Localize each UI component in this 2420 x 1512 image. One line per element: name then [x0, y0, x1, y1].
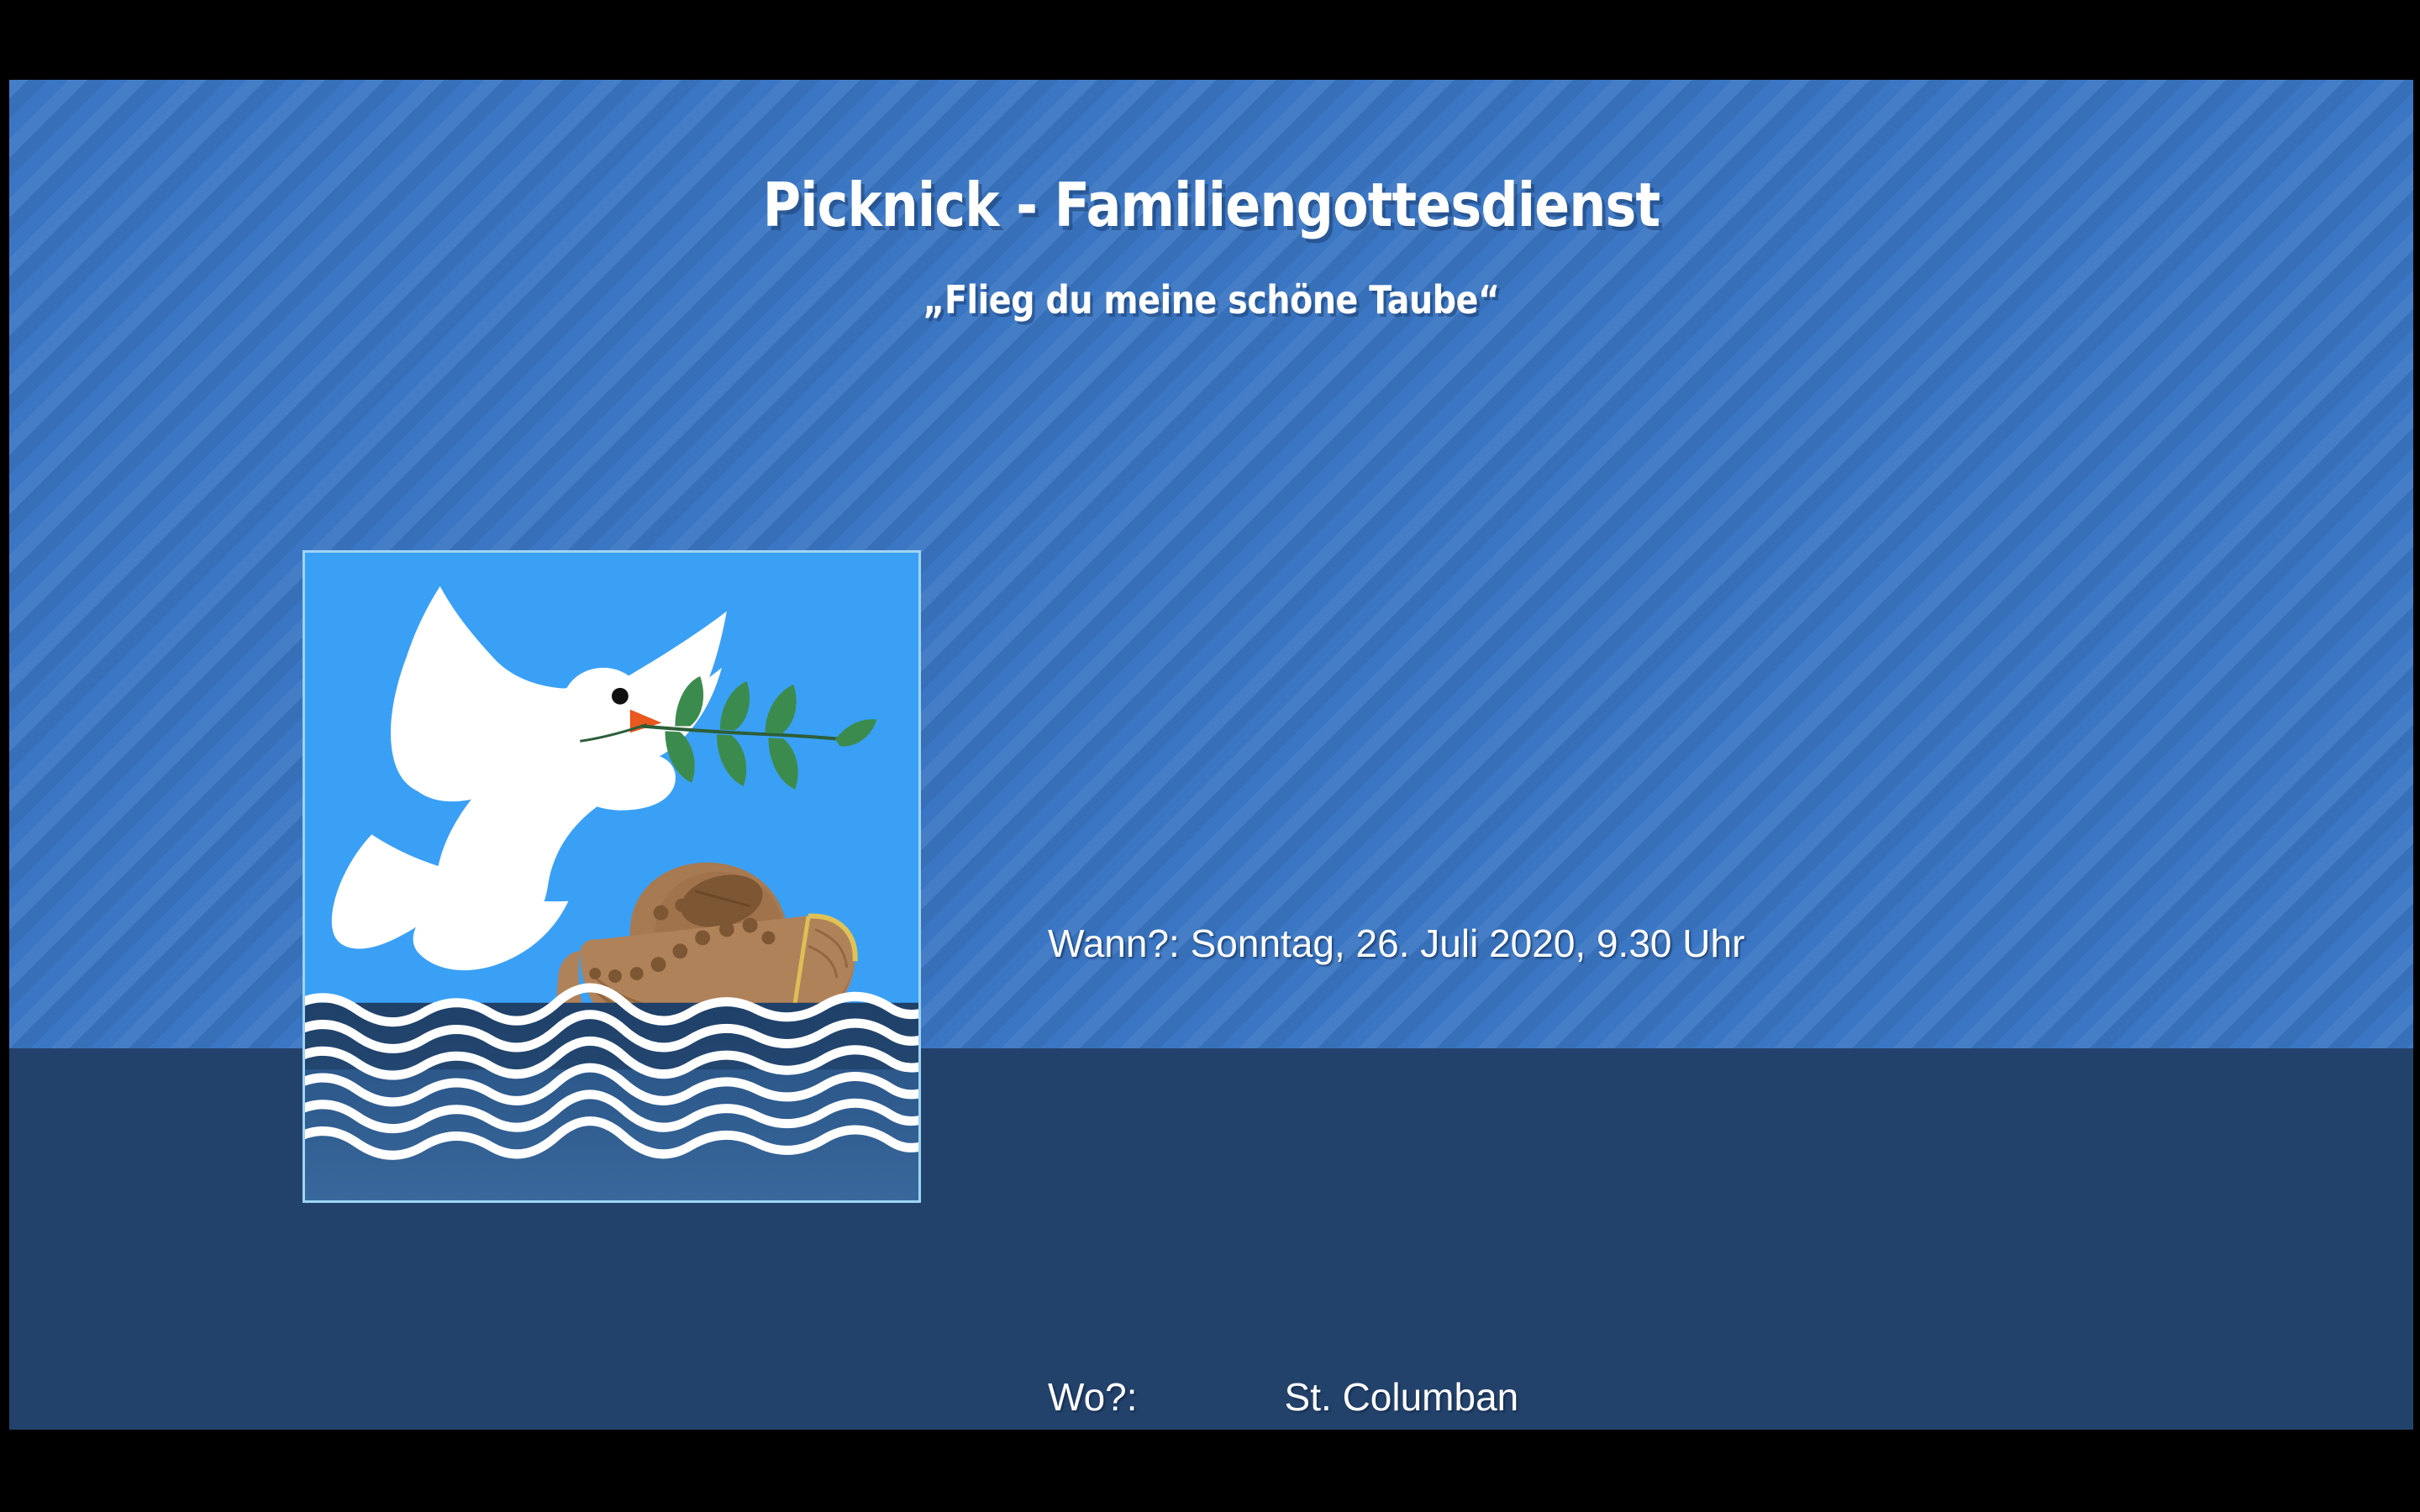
detail-wo: Wo?:St. Columban auf der Wiese neben der…	[1048, 1268, 2359, 1430]
heading-group: Picknick - Familiengottesdienst „Flieg d…	[9, 80, 2413, 319]
detail-wo-line1: Wo?:St. Columban	[1048, 1372, 2359, 1424]
dove-ark-illustration-svg	[305, 553, 918, 1200]
detail-wann-label: Wann?:	[1048, 921, 1180, 965]
detail-wann-value: Sonntag, 26. Juli 2020, 9.30 Uhr	[1180, 921, 1745, 965]
dove-eye	[612, 688, 629, 705]
screenshot-canvas: Picknick - Familiengottesdienst „Flieg d…	[0, 0, 2420, 1512]
detail-wann-line: Wann?: Sonntag, 26. Juli 2020, 9.30 Uhr	[1048, 918, 2359, 970]
presentation-slide: Picknick - Familiengottesdienst „Flieg d…	[9, 80, 2413, 1430]
detail-wann: Wann?: Sonntag, 26. Juli 2020, 9.30 Uhr	[1048, 815, 2359, 1074]
detail-wo-label: Wo?:	[1048, 1375, 1138, 1419]
water	[305, 988, 918, 1200]
illustration-image	[302, 550, 921, 1203]
page-title: Picknick - Familiengottesdienst	[177, 80, 2244, 235]
page-subtitle: „Flieg du meine schöne Taube“	[177, 235, 2244, 319]
detail-wo-value1: St. Columban	[1138, 1375, 1519, 1419]
event-details: Wann?: Sonntag, 26. Juli 2020, 9.30 Uhr …	[1048, 659, 2359, 1430]
